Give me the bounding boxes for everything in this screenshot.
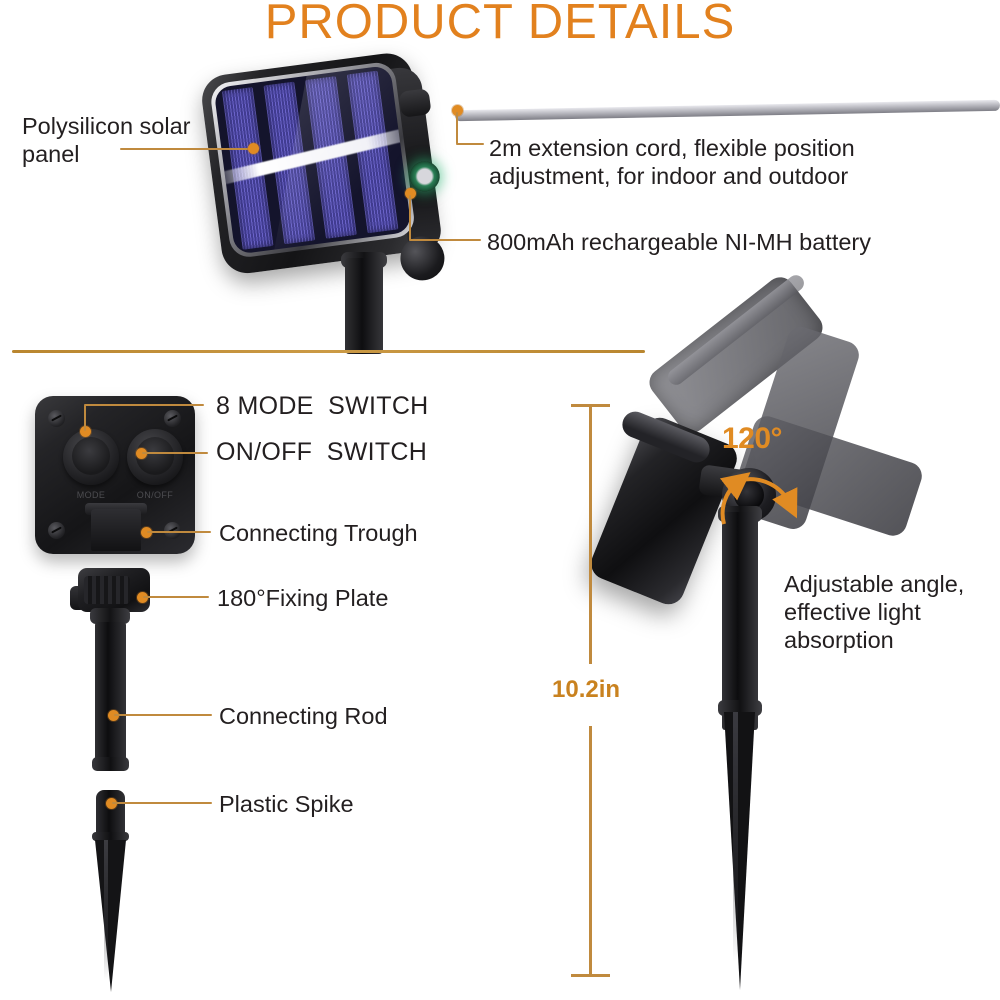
callout-solar-panel: Polysilicon solar panel [22, 112, 190, 168]
fixing-plate-ribs [84, 576, 130, 604]
screw-icon [48, 522, 65, 539]
plastic-spike-tip [95, 840, 126, 992]
leader-fixing-plate [143, 596, 209, 598]
rotation-angle-label: 120° [722, 422, 782, 456]
onoff-button[interactable] [127, 429, 183, 485]
callout-connecting-trough: Connecting Trough [219, 519, 418, 547]
callout-mode-switch: 8 MODE SWITCH [216, 392, 429, 421]
polysilicon-cells [213, 65, 411, 255]
rod-base [92, 757, 129, 771]
callout-battery: 800mAh rechargeable NI-MH battery [487, 228, 871, 256]
section-divider [12, 350, 645, 353]
plastic-spike-highlight [104, 840, 108, 980]
connecting-rod [95, 622, 126, 767]
connecting-trough [91, 509, 141, 551]
leader-connecting-rod [114, 714, 212, 716]
solar-panel-unit [199, 48, 457, 306]
callout-extension-cord: 2m extension cord, flexible position adj… [489, 134, 855, 190]
leader-extension-cord [456, 143, 484, 145]
mode-button[interactable] [63, 429, 119, 485]
right-spike-highlight [733, 712, 738, 962]
callout-connecting-rod: Connecting Rod [219, 702, 388, 730]
dimension-line-bottom [589, 726, 592, 976]
callout-plastic-spike: Plastic Spike [219, 790, 354, 818]
screw-icon [164, 410, 181, 427]
page-title: PRODUCT DETAILS [0, 0, 1000, 50]
callout-fixing-plate: 180°Fixing Plate [217, 584, 388, 612]
dimension-line-top [589, 404, 592, 664]
product-details-infographic: PRODUCT DETAILS Polysilicon solar panel … [0, 0, 1000, 1000]
right-plastic-spike [724, 712, 755, 990]
dimension-cap-bottom [571, 974, 610, 977]
onoff-button-label: ON/OFF [120, 490, 190, 500]
leader-plastic-spike [112, 802, 212, 804]
cord-port [399, 88, 432, 118]
screw-icon [48, 410, 65, 427]
extension-cord [455, 100, 1000, 121]
top-pole [345, 258, 383, 354]
leader-dot-solar-panel [248, 143, 259, 154]
mode-button-label: MODE [56, 490, 126, 500]
callout-adjustable-angle: Adjustable angle, effective light absorp… [784, 570, 964, 655]
callout-onoff-switch: ON/OFF SWITCH [216, 438, 427, 467]
dimension-label: 10.2in [552, 676, 620, 704]
